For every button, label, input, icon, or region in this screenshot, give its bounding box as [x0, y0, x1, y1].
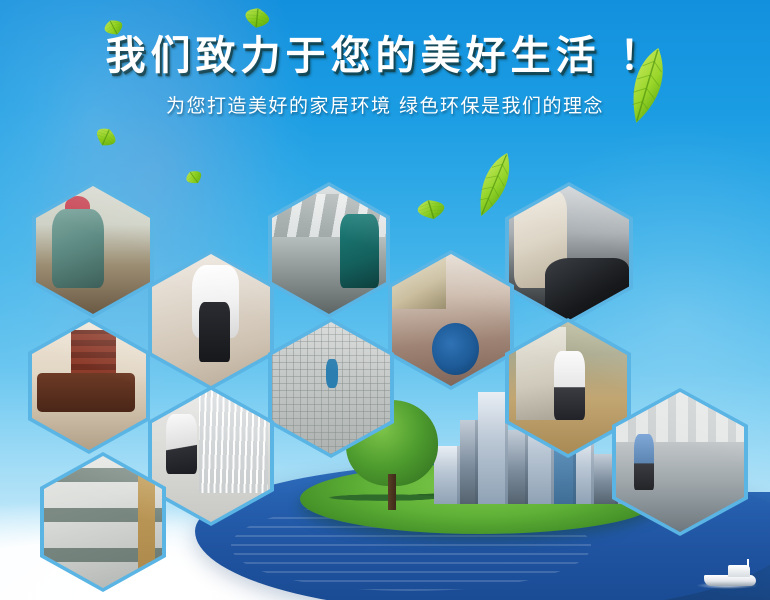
- hex-stair-cleaning[interactable]: [148, 250, 274, 390]
- hex-building-facade[interactable]: [40, 452, 166, 592]
- hex-glass-curtain-wall[interactable]: [612, 388, 748, 536]
- hex-carpet-machine[interactable]: [388, 250, 514, 390]
- hex-demolition-worker[interactable]: [32, 182, 154, 318]
- hex-chandelier-clean[interactable]: [148, 386, 274, 526]
- hex-kitchen-hood[interactable]: [505, 182, 633, 324]
- banner-subheadline: 为您打造美好的家居环境 绿色环保是我们的理念: [0, 92, 770, 120]
- hex-duct-cleaning[interactable]: [268, 182, 390, 318]
- banner-text-block: 我们致力于您的美好生活 ！ 为您打造美好的家居环境 绿色环保是我们的理念: [0, 30, 770, 120]
- promo-banner: 我们致力于您的美好生活 ！ 为您打造美好的家居环境 绿色环保是我们的理念: [0, 0, 770, 600]
- hex-handrail-polish[interactable]: [28, 318, 150, 454]
- hex-rope-access-wall[interactable]: [268, 318, 394, 458]
- banner-headline: 我们致力于您的美好生活 ！: [0, 30, 770, 82]
